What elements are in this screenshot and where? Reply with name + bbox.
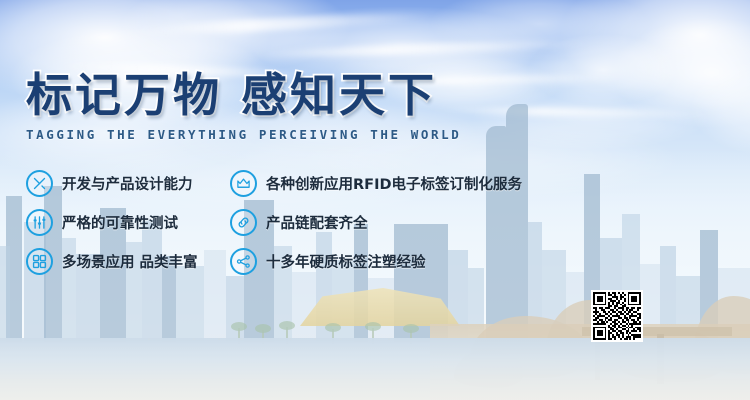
feature-item-injection-experience[interactable]: 十多年硬质标签注塑经验	[230, 246, 730, 276]
qr-code[interactable]	[591, 290, 643, 342]
cloud	[120, 0, 350, 72]
feature-label: 严格的可靠性测试	[62, 212, 178, 233]
feature-item-product-chain[interactable]: 产品链配套齐全	[230, 207, 730, 237]
sliders-icon	[26, 209, 53, 236]
feature-item-design-capability[interactable]: 开发与产品设计能力	[26, 168, 236, 198]
cloud	[430, 0, 650, 60]
waterfront	[0, 354, 430, 400]
qr-code-matrix	[593, 292, 641, 340]
feature-item-multi-scenario[interactable]: 多场景应用 品类丰富	[26, 246, 236, 276]
feature-label: 产品链配套齐全	[266, 212, 368, 233]
share-icon	[230, 248, 257, 275]
waterfront-promenade	[0, 340, 480, 356]
feature-column-right: 各种创新应用RFID电子标签订制化服务 产品链配套齐全	[230, 168, 730, 285]
feature-item-rfid-customization[interactable]: 各种创新应用RFID电子标签订制化服务	[230, 168, 730, 198]
cloud	[612, 18, 750, 128]
crown-icon	[230, 170, 257, 197]
cloud	[690, 60, 750, 155]
link-icon	[230, 209, 257, 236]
tools-icon	[26, 170, 53, 197]
cloud	[528, 34, 678, 106]
pavilion-canopy	[300, 288, 460, 326]
feature-label: 各种创新应用RFID电子标签订制化服务	[266, 173, 522, 194]
grid-icon	[26, 248, 53, 275]
feature-label: 十多年硬质标签注塑经验	[266, 251, 426, 272]
feature-label: 开发与产品设计能力	[62, 173, 193, 194]
sandy-shore	[430, 324, 750, 400]
shoreline-lights	[60, 336, 620, 340]
feature-label: 多场景应用 品类丰富	[62, 251, 198, 272]
promo-banner: 标记万物 感知天下 TAGGING THE EVERYTHING PERCEIV…	[0, 0, 750, 400]
feature-column-left: 开发与产品设计能力 严格的可靠性测试	[26, 168, 236, 285]
cloud-streak	[130, 10, 430, 38]
page-title: 标记万物 感知天下	[26, 72, 461, 118]
cloud-streak	[250, 38, 590, 60]
cloud-streak	[430, 106, 710, 119]
cloud	[470, 88, 710, 150]
headline-block: 标记万物 感知天下 TAGGING THE EVERYTHING PERCEIV…	[26, 72, 461, 142]
foreground-ground	[0, 338, 750, 400]
page-subtitle: TAGGING THE EVERYTHING PERCEIVING THE WO…	[26, 127, 461, 142]
feature-item-reliability-testing[interactable]: 严格的可靠性测试	[26, 207, 236, 237]
cloud	[560, 0, 750, 110]
